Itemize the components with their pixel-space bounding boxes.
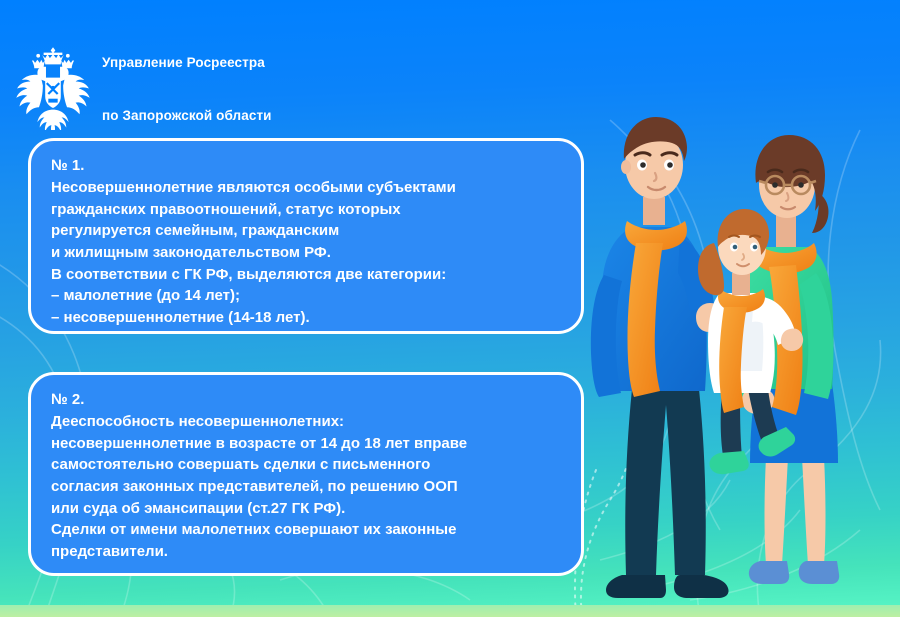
card-1-number: № 1. [51, 155, 561, 176]
mother-left-leg [765, 457, 789, 565]
child-neck [732, 273, 750, 295]
father-trousers [625, 389, 706, 575]
father-neck [643, 197, 665, 225]
card-1-text: Несовершеннолетние являются особыми субъ… [51, 179, 456, 326]
child-left-shoe [709, 451, 748, 474]
mother-right-eye [798, 182, 804, 188]
brand-title-line-2: по Запорожской области [102, 107, 272, 125]
rosreestr-eagle-emblem-icon [14, 44, 92, 130]
mother-neck [776, 215, 796, 247]
info-card-2: № 2. Дееспособность несовершеннолетних: … [28, 372, 584, 576]
father-left-shoe [606, 575, 666, 598]
card-2-text: Дееспособность несовершеннолетних: несов… [51, 413, 467, 560]
info-card-1: № 1. Несовершеннолетние являются особыми… [28, 138, 584, 334]
father-right-shoe [674, 575, 729, 598]
poster-root: Управление Росреестра по Запорожской обл… [0, 0, 900, 617]
mother-left-eye [772, 182, 778, 188]
mother-left-shoe [749, 561, 789, 584]
father-ear [621, 160, 631, 174]
brand-title-line-1: Управление Росреестра [102, 54, 272, 72]
family-illustration [580, 97, 900, 617]
card-2-number: № 2. [51, 389, 561, 410]
father-figure [591, 117, 729, 598]
bottom-accent-strip [0, 605, 900, 617]
mother-hair-side [812, 193, 829, 233]
mother-right-leg [802, 457, 826, 565]
mother-right-shoe [799, 561, 839, 584]
